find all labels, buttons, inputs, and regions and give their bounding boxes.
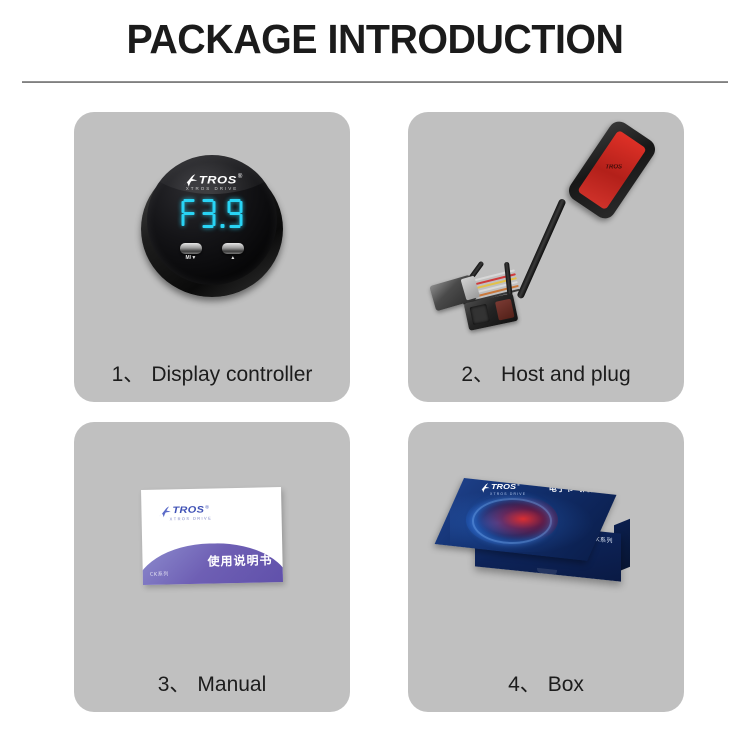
connector-dark-red-block	[495, 299, 515, 321]
card-index: 2、	[461, 363, 494, 386]
display-controller-image: TROS ® XTROS DRIVE	[74, 112, 350, 340]
box-artwork-ring	[472, 498, 552, 544]
manual-series-code: CK系列	[150, 570, 169, 577]
mode-down-button[interactable]: M/▼	[180, 243, 202, 261]
tros-logo-text: TROS	[199, 174, 237, 185]
title-divider	[22, 81, 728, 83]
seven-segment-display	[181, 199, 244, 228]
box-top-panel: TROS ® XTROS DRIVE 电子节气门控制器	[435, 478, 617, 561]
seg-char-3	[200, 199, 217, 228]
package-item-card-host-and-plug[interactable]: TROS 2、Host and plug	[408, 112, 684, 402]
card-index: 1、	[112, 363, 145, 386]
registered-trademark-icon: ®	[238, 174, 242, 180]
manual-title: 使用说明书	[207, 551, 272, 569]
registered-trademark-icon: ®	[517, 483, 520, 487]
mode-down-button-cap[interactable]	[180, 243, 202, 254]
tros-logo-text: TROS	[491, 483, 516, 491]
up-button-cap[interactable]	[222, 243, 244, 254]
connector-dark-slot	[470, 304, 490, 325]
seg-char-dot	[219, 199, 225, 228]
package-item-card-display-controller[interactable]: TROS ® XTROS DRIVE	[74, 112, 350, 402]
host-label-text: TROS	[605, 165, 622, 171]
card-caption-display-controller: 1、Display controller	[74, 358, 350, 388]
registered-trademark-icon: ®	[205, 506, 209, 511]
card-label-text: Manual	[197, 673, 266, 696]
package-item-card-box[interactable]: CK系列 Electronic throttle controller	[408, 422, 684, 712]
up-button-label: ▲	[230, 256, 235, 261]
card-label-text: Display controller	[151, 363, 312, 386]
main-cable	[516, 198, 566, 300]
box-title-chinese: 电子节气门控制器	[549, 483, 616, 494]
star-icon	[478, 483, 490, 493]
card-index: 4、	[508, 673, 541, 696]
dial-face: TROS ® XTROS DRIVE	[147, 155, 277, 285]
seg-char-F	[181, 199, 198, 228]
box-top-artwork: TROS ® XTROS DRIVE 电子节气门控制器	[464, 478, 617, 544]
card-label-text: Box	[548, 673, 584, 696]
host-red-label: TROS	[577, 130, 647, 210]
card-caption-box: 4、Box	[408, 668, 684, 698]
dial-button-row: M/▼ ▲	[180, 243, 244, 261]
card-label-text: Host and plug	[501, 363, 631, 386]
manual-image: TROS ® XTROS DRIVE 使用说明书 CK系列	[74, 422, 350, 650]
page-title: PACKAGE INTRODUCTION	[15, 16, 735, 63]
seg-char-9	[227, 199, 244, 228]
tros-logo-subtext: XTROS DRIVE	[170, 515, 213, 521]
tros-logo-subtext: XTROS DRIVE	[490, 492, 526, 496]
card-index: 3、	[158, 673, 191, 696]
tros-logo-text: TROS	[172, 506, 204, 516]
dial-controller: TROS ® XTROS DRIVE	[137, 151, 287, 301]
retail-box: CK系列 Electronic throttle controller	[460, 478, 632, 594]
card-caption-manual: 3、Manual	[74, 668, 350, 698]
up-button[interactable]: ▲	[222, 243, 244, 261]
host-and-plug-image: TROS	[408, 112, 684, 340]
manual-booklet: TROS ® XTROS DRIVE 使用说明书 CK系列	[141, 487, 283, 585]
card-caption-host-and-plug: 2、Host and plug	[408, 358, 684, 388]
box-notch	[537, 568, 557, 575]
box-image: CK系列 Electronic throttle controller	[408, 422, 684, 650]
mode-down-button-label: M/▼	[185, 256, 196, 261]
tros-logo-subtext: XTROS DRIVE	[186, 186, 239, 191]
host-module: TROS	[565, 117, 660, 222]
package-item-card-manual[interactable]: TROS ® XTROS DRIVE 使用说明书 CK系列 3、Manual	[74, 422, 350, 712]
package-items-grid: TROS ® XTROS DRIVE	[0, 112, 750, 722]
